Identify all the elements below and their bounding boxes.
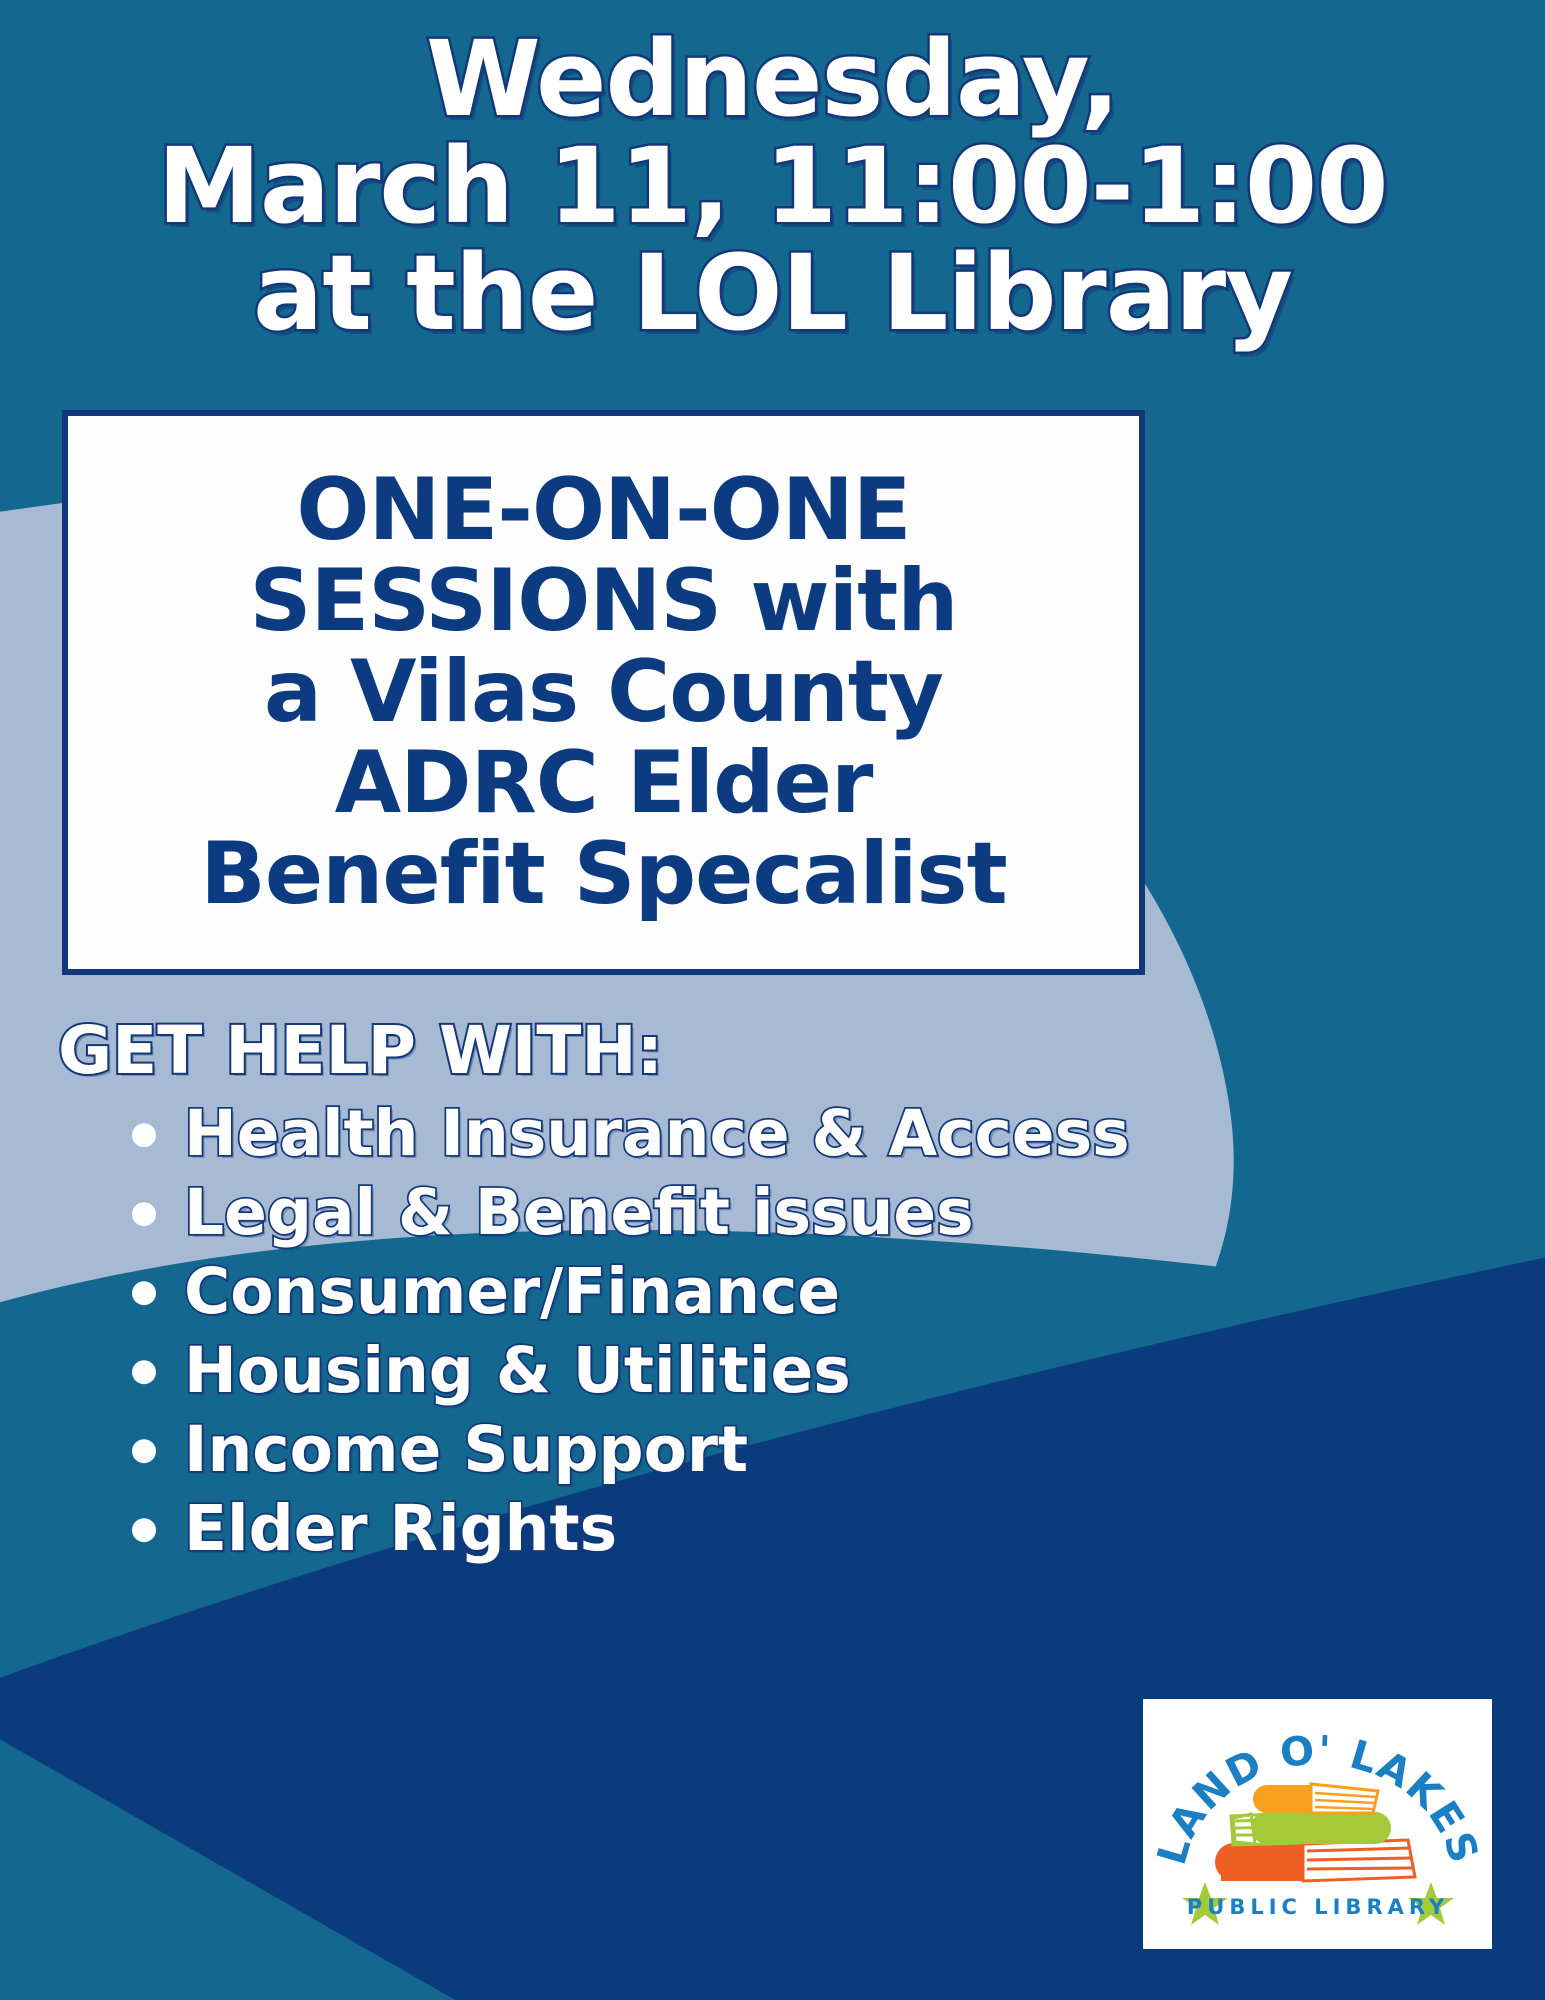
header-line-time: March 11, 11:00-1:00 [0, 133, 1545, 240]
list-item: Health Insurance & Access [126, 1094, 1178, 1173]
bullet-icon [132, 1202, 156, 1226]
get-help-list: Health Insurance & Access Legal & Benefi… [58, 1094, 1178, 1568]
bullet-icon [132, 1123, 156, 1147]
title-line-2: SESSIONS with [250, 556, 958, 647]
title-line-3: a Vilas County [264, 647, 943, 738]
list-item: Income Support [126, 1410, 1178, 1489]
bullet-icon [132, 1439, 156, 1463]
list-item-label: Housing & Utilities [184, 1334, 851, 1407]
logo-subtitle: PUBLIC LIBRARY [1187, 1895, 1449, 1919]
title-line-5: Benefit Specalist [200, 829, 1006, 920]
land-o-lakes-library-logo: LAND O' LAKES [1143, 1699, 1492, 1949]
title-line-1: ONE-ON-ONE [296, 465, 910, 556]
header-line-date: Wednesday, [0, 26, 1545, 133]
list-item: Elder Rights [126, 1489, 1178, 1568]
bullet-icon [132, 1281, 156, 1305]
library-logo-card: LAND O' LAKES [1143, 1699, 1492, 1949]
list-item: Legal & Benefit issues [126, 1173, 1178, 1252]
header-line-location: at the LOL Library [0, 240, 1545, 347]
main-title-card: ONE-ON-ONE SESSIONS with a Vilas County … [62, 410, 1145, 975]
list-item: Consumer/Finance [126, 1252, 1178, 1331]
title-line-4: ADRC Elder [335, 738, 873, 829]
list-item-label: Legal & Benefit issues [184, 1176, 974, 1249]
bottom-book [1215, 1840, 1415, 1881]
list-item-label: Elder Rights [184, 1492, 617, 1565]
get-help-section: GET HELP WITH: Health Insurance & Access… [58, 1018, 1178, 1568]
list-item: Housing & Utilities [126, 1331, 1178, 1410]
list-item-label: Health Insurance & Access [184, 1097, 1130, 1170]
list-item-label: Consumer/Finance [184, 1255, 840, 1328]
event-header: Wednesday, March 11, 11:00-1:00 at the L… [0, 26, 1545, 347]
get-help-heading: GET HELP WITH: [58, 1018, 1178, 1084]
bullet-icon [132, 1360, 156, 1384]
bullet-icon [132, 1518, 156, 1542]
poster-canvas: Wednesday, March 11, 11:00-1:00 at the L… [0, 0, 1545, 2000]
list-item-label: Income Support [184, 1413, 748, 1486]
top-book [1253, 1784, 1378, 1813]
